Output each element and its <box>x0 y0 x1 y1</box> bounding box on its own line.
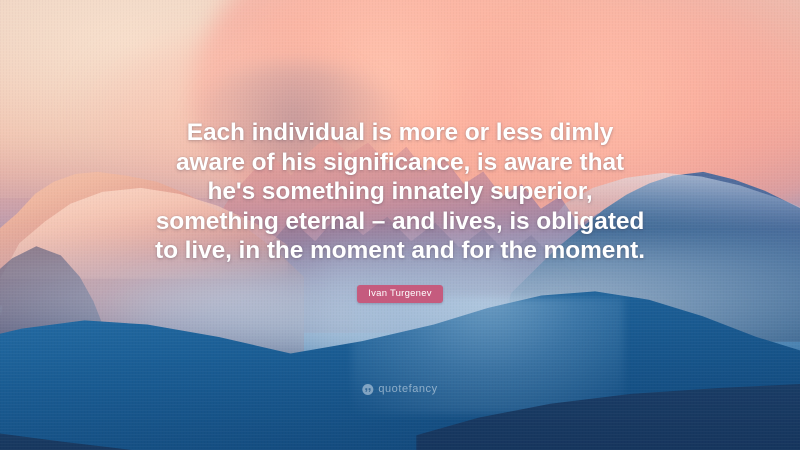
quote-line-2: aware of his significance, is aware that <box>50 148 750 178</box>
quotefancy-watermark[interactable]: quotefancy <box>362 384 437 395</box>
quote-marks-icon <box>362 384 373 395</box>
quote-text: Each individual is more or less dimly aw… <box>50 118 750 266</box>
quote-line-4: something eternal – and lives, is obliga… <box>50 207 750 237</box>
quote-line-3: he's something innately superior, <box>50 177 750 207</box>
quotefancy-brand-text: quotefancy <box>378 384 437 395</box>
quote-line-1: Each individual is more or less dimly <box>50 118 750 148</box>
quote-poster: Each individual is more or less dimly aw… <box>0 0 800 450</box>
author-badge[interactable]: Ivan Turgenev <box>357 285 442 304</box>
quote-line-5: to live, in the moment and for the momen… <box>50 236 750 266</box>
